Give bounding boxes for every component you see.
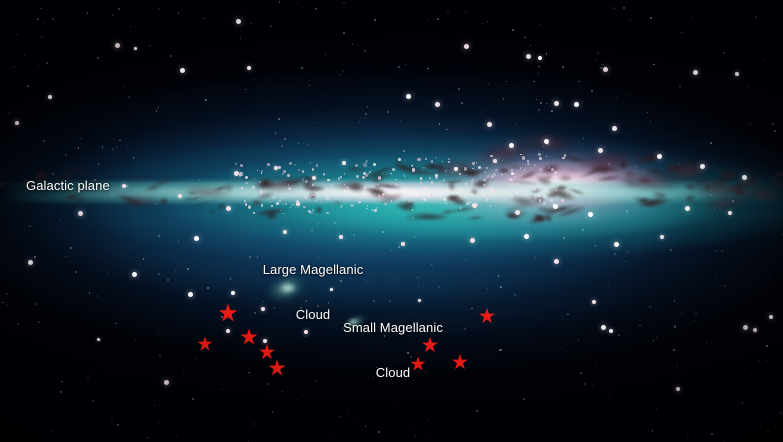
globular-cluster-dot (660, 235, 664, 239)
field-star (580, 372, 581, 373)
star-cloud-speckle (338, 187, 339, 188)
field-star (625, 95, 626, 96)
star-cloud-speckle (435, 157, 436, 158)
field-star (674, 300, 675, 301)
label-smc-line1: Small Magellanic (334, 320, 452, 335)
star-cloud-speckle (490, 178, 492, 180)
dust-clump (394, 161, 428, 178)
dust-patch (120, 194, 165, 207)
field-star (596, 59, 598, 61)
star-cloud-speckle (514, 176, 515, 177)
dust-clump (745, 176, 762, 182)
globular-cluster-dot (538, 56, 542, 60)
field-star (119, 140, 120, 141)
star-cloud-speckle (308, 210, 310, 212)
dust-clump (566, 168, 577, 172)
star-cloud-speckle (312, 168, 314, 170)
star-cloud-speckle (486, 177, 487, 178)
field-star (503, 98, 504, 99)
dust-clump (544, 174, 553, 181)
field-star (236, 296, 237, 297)
star-cloud-speckle (527, 178, 529, 180)
field-star (139, 264, 140, 265)
field-star (551, 110, 553, 112)
star-cloud-speckle (303, 192, 304, 193)
field-star (446, 129, 448, 131)
field-star (552, 100, 553, 101)
field-star (609, 165, 611, 167)
star-cloud-speckle (534, 164, 536, 166)
field-star (616, 97, 617, 98)
star-cloud-speckle (516, 191, 519, 194)
field-star (364, 50, 365, 51)
dust-clump (466, 215, 485, 220)
star-cloud-speckle (252, 186, 255, 189)
star-cloud-speckle (382, 193, 385, 196)
field-star (221, 389, 222, 390)
field-star (226, 98, 227, 99)
dust-clump (365, 171, 392, 182)
star-cloud-speckle (448, 158, 450, 160)
field-star (610, 6, 611, 7)
field-star (510, 281, 511, 282)
field-star (600, 67, 602, 69)
field-star (237, 162, 238, 163)
dust-clump (588, 165, 623, 173)
field-star (538, 66, 540, 68)
star-cloud-speckle (423, 198, 426, 201)
star-cloud-speckle (446, 190, 449, 193)
dust-clump (208, 211, 216, 214)
star-cloud-speckle (475, 203, 478, 206)
field-star (561, 348, 562, 349)
field-star (633, 196, 634, 197)
field-star (618, 334, 620, 336)
star-cloud-speckle (344, 184, 346, 186)
field-star (329, 433, 330, 434)
field-star (37, 324, 38, 325)
sky-image: Galactic plane Large Magellanic Cloud Sm… (0, 0, 783, 442)
field-star (117, 368, 118, 369)
field-star (312, 209, 314, 211)
globular-cluster-dot (342, 161, 346, 165)
globular-cluster-dot (78, 211, 83, 216)
field-star (540, 102, 542, 104)
field-star (732, 200, 734, 202)
field-star (653, 64, 654, 65)
dust-clump (686, 164, 714, 167)
field-star (583, 138, 584, 139)
star-cloud-speckle (412, 209, 413, 210)
star-cloud-speckle (280, 210, 282, 212)
star-cloud-speckle (444, 198, 447, 201)
field-star (111, 195, 112, 196)
field-star (363, 198, 364, 199)
dust-clump (764, 175, 783, 194)
field-star (156, 203, 157, 204)
field-star (656, 337, 657, 338)
star-cloud-speckle (417, 158, 420, 161)
field-star (179, 194, 180, 195)
globular-cluster-dot (592, 300, 596, 304)
field-star (671, 196, 672, 197)
field-star (230, 278, 231, 279)
field-star (649, 306, 651, 308)
star-cloud-speckle (260, 192, 263, 195)
field-star (46, 62, 47, 63)
globular-cluster-dot (312, 176, 316, 180)
dust-clump (113, 191, 148, 210)
field-star (755, 16, 757, 18)
field-star (578, 81, 580, 83)
field-star (367, 106, 368, 107)
field-star (695, 313, 696, 314)
field-star (767, 431, 768, 432)
dust-clump (332, 201, 342, 205)
field-star (412, 217, 414, 219)
field-star (75, 271, 77, 273)
field-star (116, 146, 117, 147)
field-star (318, 223, 320, 225)
dust-clump (770, 171, 783, 178)
dust-clump (241, 176, 254, 181)
star-cloud-speckle (533, 189, 535, 191)
dust-clump (712, 180, 725, 187)
star-cloud-speckle (310, 195, 312, 197)
globular-cluster-dot (509, 143, 514, 148)
field-star (22, 177, 23, 178)
star-cloud-speckle (421, 190, 423, 192)
field-star (766, 345, 767, 346)
field-star (28, 265, 29, 266)
dust-clump (447, 180, 457, 192)
star-cloud-speckle (289, 162, 292, 165)
star-cloud-speckle (382, 196, 385, 199)
dust-patch (659, 155, 716, 186)
field-star (681, 32, 682, 33)
globular-cluster-dot (493, 159, 497, 163)
globular-cluster-dot (472, 203, 477, 208)
field-star (365, 425, 367, 427)
field-star (352, 44, 353, 45)
field-star (240, 38, 242, 40)
star-cloud-speckle (511, 183, 514, 186)
field-star (178, 12, 180, 14)
star-cloud-speckle (245, 176, 248, 179)
field-star (343, 32, 345, 34)
field-star (342, 70, 344, 72)
star-cloud-speckle (469, 201, 471, 203)
star-cloud-speckle (396, 184, 397, 185)
field-star (636, 165, 638, 167)
field-star (614, 8, 615, 9)
star-cloud-speckle (517, 173, 518, 174)
field-star (97, 295, 98, 296)
field-star (282, 203, 284, 205)
globular-cluster-dot (743, 325, 748, 330)
star-cloud-speckle (327, 179, 330, 182)
star-cloud-speckle (248, 206, 251, 209)
field-star (35, 303, 37, 305)
dust-clump (765, 170, 783, 183)
field-star (98, 163, 100, 165)
star-cloud-speckle (366, 195, 367, 196)
field-star (723, 440, 724, 441)
dust-clump (447, 205, 481, 214)
field-star (652, 430, 654, 432)
field-star (538, 129, 539, 130)
field-star (118, 8, 120, 10)
field-star (714, 208, 715, 209)
field-star (112, 14, 114, 16)
star-cloud-speckle (464, 167, 467, 170)
dust-patch (429, 157, 479, 182)
field-star (158, 273, 160, 275)
field-star (437, 18, 439, 20)
field-star (423, 167, 425, 169)
field-star (320, 95, 321, 96)
field-star (710, 142, 712, 144)
field-star (340, 74, 341, 75)
field-star (656, 408, 657, 409)
field-star (436, 221, 438, 223)
field-star (97, 57, 99, 59)
field-star (133, 157, 134, 158)
star-cloud-speckle (261, 204, 263, 206)
field-star (670, 249, 672, 251)
star-cloud-speckle (340, 205, 343, 208)
star-cloud-speckle (539, 201, 540, 202)
field-star (464, 328, 466, 330)
field-star (750, 123, 751, 124)
field-star (597, 52, 599, 54)
field-star (307, 75, 308, 76)
label-lmc-line1: Large Magellanic (254, 262, 372, 277)
field-star (105, 369, 106, 370)
star-cloud-speckle (351, 198, 352, 199)
dust-clump (300, 177, 317, 191)
star-cloud-speckle (548, 167, 550, 169)
star-cloud-speckle (486, 198, 489, 201)
field-star (487, 21, 488, 22)
globular-cluster-dot (226, 329, 230, 333)
field-star (325, 54, 326, 55)
star-cloud-speckle (509, 189, 510, 190)
dust-clump (439, 209, 454, 215)
field-star (314, 194, 316, 196)
dust-clump (469, 187, 479, 195)
star-cloud-speckle (562, 157, 565, 160)
field-star (698, 355, 699, 356)
field-star (742, 402, 743, 403)
globular-cluster-dot (226, 206, 231, 211)
star-cloud-speckle (311, 194, 314, 197)
dust-clump (297, 174, 321, 182)
field-star (387, 111, 388, 112)
field-star (626, 210, 628, 212)
field-star (60, 195, 61, 196)
dust-clump (302, 185, 326, 192)
star-cloud-speckle (305, 180, 308, 183)
field-star (398, 246, 400, 248)
galactic-disc-teal-inner (150, 150, 783, 258)
field-star (376, 197, 378, 199)
star-cloud-speckle (557, 198, 558, 199)
field-star (673, 349, 675, 351)
star-cloud-speckle (276, 197, 277, 198)
dust-clump (394, 199, 417, 211)
dust-clump (472, 178, 490, 189)
field-star (706, 342, 707, 343)
star-cloud-speckle (386, 174, 387, 175)
star-cloud-speckle (245, 182, 247, 184)
star-cloud-speckle (484, 171, 486, 173)
field-star (585, 217, 587, 219)
star-cloud-speckle (377, 184, 378, 185)
globular-cluster-dot (601, 325, 606, 330)
field-star (738, 257, 739, 258)
dust-clump (363, 164, 394, 180)
field-star (412, 431, 413, 432)
star-cloud-speckle (254, 178, 255, 179)
field-star (107, 272, 108, 273)
field-star (311, 229, 313, 231)
field-star (273, 406, 274, 407)
star-cloud-speckle (362, 176, 365, 179)
field-star (85, 293, 86, 294)
dust-clump (265, 210, 279, 219)
star-cloud-speckle (374, 209, 377, 212)
dust-clump (623, 168, 635, 179)
field-star (623, 7, 625, 9)
star-cloud-speckle (296, 200, 299, 203)
field-star (94, 372, 95, 373)
star-cloud-speckle (412, 166, 413, 167)
star-cloud-speckle (538, 185, 540, 187)
dust-clump (373, 182, 403, 190)
field-star (245, 89, 246, 90)
globular-cluster-dot (515, 210, 520, 215)
field-star (338, 160, 339, 161)
dust-clump (741, 165, 757, 171)
dust-clump (404, 201, 415, 208)
field-star (428, 20, 429, 21)
star-cloud-speckle (242, 188, 243, 189)
field-star (538, 389, 539, 390)
star-cloud-speckle (465, 197, 466, 198)
field-star (404, 159, 405, 160)
field-star (418, 284, 419, 285)
star-cloud-speckle (245, 203, 247, 205)
globular-cluster-dot (134, 47, 137, 50)
field-star (629, 19, 631, 21)
star-cloud-speckle (248, 205, 251, 208)
dust-clump (651, 190, 665, 201)
star-cloud-speckle (505, 192, 508, 195)
field-star (591, 203, 592, 204)
star-cloud-speckle (539, 168, 542, 171)
globular-cluster-dot (178, 194, 182, 198)
star-cloud-speckle (365, 174, 368, 177)
field-star (539, 24, 540, 25)
star-cloud-speckle (413, 188, 416, 191)
star-cloud-speckle (315, 189, 316, 190)
field-star (499, 349, 501, 351)
star-cloud-speckle (310, 162, 312, 164)
field-star (37, 313, 39, 315)
star-cloud-speckle (543, 202, 546, 205)
star-cloud-speckle (384, 192, 387, 195)
globular-cluster-dot (180, 68, 185, 73)
star-cloud-speckle (355, 164, 358, 167)
field-star (61, 381, 62, 382)
star-cloud-speckle (445, 203, 446, 204)
dust-clump (217, 202, 229, 212)
field-star (721, 250, 723, 252)
globular-cluster-dot (524, 234, 529, 239)
dust-clump (281, 179, 306, 189)
star-cloud-speckle (472, 178, 475, 181)
dust-clump (530, 188, 542, 194)
dust-patch (699, 193, 750, 212)
dust-clump (456, 164, 483, 180)
field-star (267, 383, 269, 385)
star-cloud-speckle (435, 176, 438, 179)
field-star (130, 26, 131, 27)
field-star (318, 122, 319, 123)
field-star (754, 120, 756, 122)
field-star (676, 365, 678, 367)
field-star (196, 358, 197, 359)
star-cloud-speckle (302, 170, 305, 173)
star-cloud-speckle (511, 195, 514, 198)
field-star (403, 150, 405, 152)
field-star (76, 209, 77, 210)
dust-clump (554, 203, 588, 220)
red-star-marker (269, 360, 286, 377)
star-cloud-speckle (514, 178, 516, 180)
globular-cluster-dot (464, 44, 469, 49)
field-star (667, 270, 668, 271)
star-cloud-speckle (392, 168, 395, 171)
star-cloud-speckle (550, 199, 552, 201)
dust-clump (637, 195, 672, 210)
dust-clump (544, 204, 572, 216)
field-star (741, 403, 742, 404)
star-cloud-speckle (516, 183, 519, 186)
globular-cluster-dot (247, 66, 251, 70)
field-star (471, 308, 472, 309)
field-star (43, 23, 44, 24)
star-cloud-speckle (257, 170, 258, 171)
field-star (543, 146, 544, 147)
field-star (149, 45, 150, 46)
star-cloud-speckle (546, 156, 547, 157)
field-star (156, 110, 158, 112)
dust-clump (526, 211, 554, 226)
globular-cluster-dot (657, 154, 662, 159)
field-star (2, 302, 3, 303)
field-star (359, 192, 360, 193)
field-star (716, 279, 718, 281)
star-cloud-speckle (390, 173, 392, 175)
star-cloud-speckle (524, 169, 525, 170)
dust-clump (724, 176, 760, 196)
globular-cluster-dot (15, 121, 19, 125)
star-cloud-speckle (365, 160, 368, 163)
field-star (170, 55, 171, 56)
field-star (429, 437, 430, 438)
